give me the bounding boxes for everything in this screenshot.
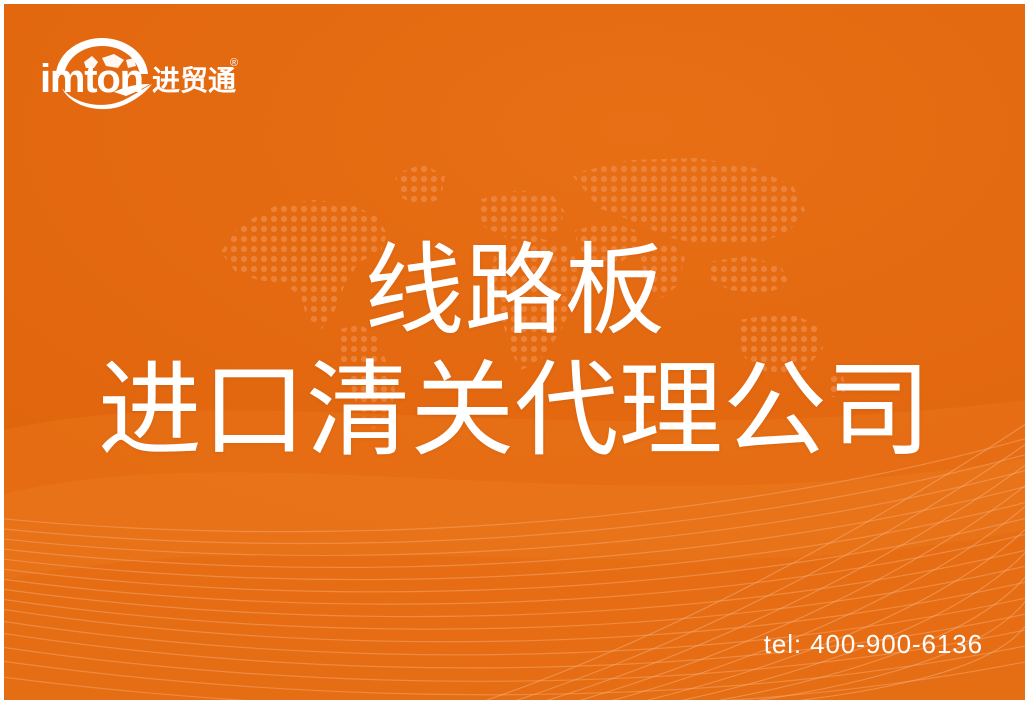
- promo-banner: imton 进贸通 ® 线路板 进口清关代理公司 tel: 400-900-61…: [0, 0, 1031, 704]
- logo-chinese-text: 进贸通: [152, 65, 236, 96]
- logo-latin-text: imton: [40, 57, 143, 101]
- brand-logo[interactable]: imton 进贸通 ®: [40, 30, 250, 110]
- headline: 线路板 进口清关代理公司: [4, 232, 1025, 473]
- banner-canvas: imton 进贸通 ® 线路板 进口清关代理公司 tel: 400-900-61…: [4, 4, 1025, 700]
- registered-mark: ®: [230, 57, 238, 69]
- headline-line-2: 进口清关代理公司: [4, 350, 1025, 473]
- headline-line-1: 线路板: [4, 232, 1025, 350]
- telephone-number[interactable]: tel: 400-900-6136: [764, 629, 983, 660]
- world-map-dot-pattern: [209, 134, 849, 434]
